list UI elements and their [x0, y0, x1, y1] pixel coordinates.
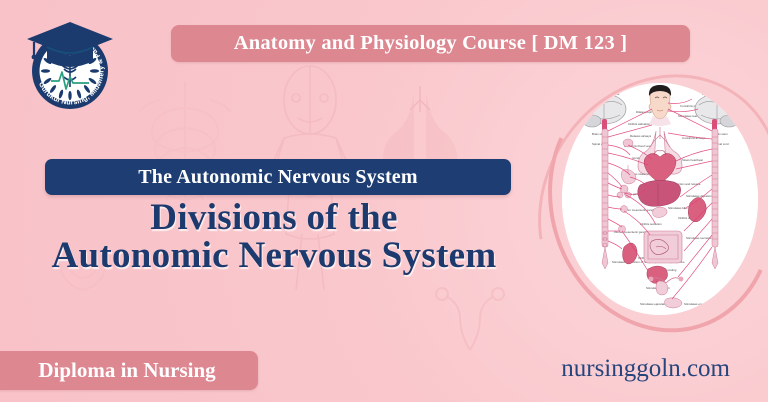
svg-text:Slows heartbeat: Slows heartbeat [682, 158, 703, 162]
autonomic-nervous-system-diagram: Sympathetic Parasympathetic Brain stem S… [562, 83, 758, 315]
uterus-watermark [425, 280, 515, 360]
program-badge-text: Diploma in Nursing [26, 358, 215, 383]
head-figure [649, 85, 671, 126]
svg-text:Stimulates ejaculation: Stimulates ejaculation [640, 302, 669, 306]
svg-text:Inhibits secretion: Inhibits secretion [640, 222, 662, 226]
main-title-line-1: Divisions of the [0, 199, 548, 237]
section-subtitle-text: The Autonomic Nervous System [138, 166, 418, 189]
program-badge: Diploma in Nursing [0, 351, 258, 390]
course-title-banner: Anatomy and Physiology Course [ DM 123 ] [171, 25, 690, 62]
illustration-container: Sympathetic Parasympathetic Brain stem S… [548, 72, 768, 330]
svg-text:Dilates pupil: Dilates pupil [636, 110, 652, 114]
section-subtitle-bar: The Autonomic Nervous System [45, 159, 511, 195]
intestines-organ [644, 231, 682, 263]
main-title-line-2: Autonomic Nervous System [0, 237, 548, 275]
course-title-text: Anatomy and Physiology Course [ DM 123 ] [234, 32, 628, 55]
institution-logo: Gurukul Nursing, Midwifery & Patient Car… [17, 11, 123, 114]
course-banner: Gurukul Nursing, Midwifery & Patient Car… [0, 0, 768, 402]
svg-text:Inhibits salivation: Inhibits salivation [628, 122, 650, 126]
svg-text:Relaxes airways: Relaxes airways [630, 134, 652, 138]
main-title: Divisions of the Autonomic Nervous Syste… [0, 199, 548, 276]
website-url[interactable]: nursinggoln.com [561, 355, 730, 383]
